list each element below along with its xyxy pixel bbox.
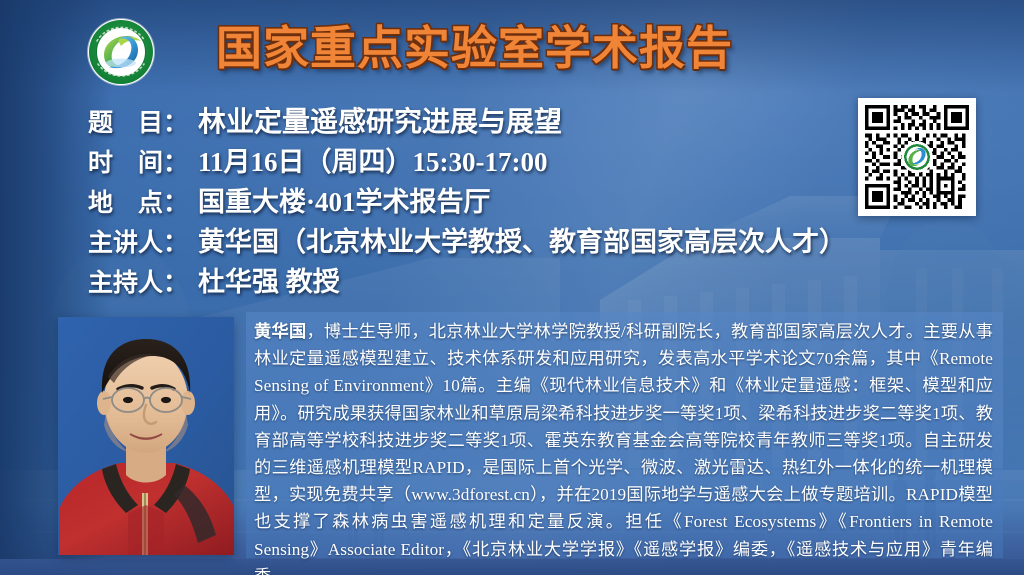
speaker-bio-text: 黄华国，博士生导师，北京林业大学林学院教授/科研副院长，教育部国家高层次人才。主… — [254, 318, 993, 575]
bio-speaker-name: 黄华国 — [254, 322, 306, 341]
info-label-speaker: 主讲人： — [88, 223, 198, 259]
event-info-block: 题 目： 林业定量遥感研究进展与展望 时 间： 11月16日（周四）15:30-… — [88, 100, 846, 300]
info-label-topic: 题 目： — [88, 103, 198, 139]
info-row-topic: 题 目： 林业定量遥感研究进展与展望 — [88, 100, 846, 140]
info-label-host: 主持人： — [88, 263, 198, 299]
speaker-bio-panel: 黄华国，博士生导师，北京林业大学林学院教授/科研副院长，教育部国家高层次人才。主… — [246, 312, 1003, 558]
info-row-host: 主持人： 杜华强 教授 — [88, 260, 846, 300]
info-label-time: 时 间： — [88, 143, 198, 179]
page-title: 国家重点实验室学术报告 — [216, 16, 733, 80]
laboratory-logo-icon — [88, 19, 154, 85]
info-value-speaker: 黄华国（北京林业大学教授、教育部国家高层次人才） — [198, 220, 846, 259]
info-row-speaker: 主讲人： 黄华国（北京林业大学教授、教育部国家高层次人才） — [88, 220, 846, 260]
qr-code[interactable] — [858, 98, 976, 216]
seminar-poster: 国家重点实验室学术报告 题 目： 林业定量遥感研究进展与展望 时 间： 11月1… — [0, 0, 1024, 575]
info-row-time: 时 间： 11月16日（周四）15:30-17:00 — [88, 140, 846, 180]
info-value-time: 11月16日（周四）15:30-17:00 — [198, 140, 547, 179]
info-value-host: 杜华强 教授 — [198, 260, 340, 299]
bio-body: ，博士生导师，北京林业大学林学院教授/科研副院长，教育部国家高层次人才。主要从事… — [254, 322, 993, 575]
info-value-place: 国重大楼·401学术报告厅 — [198, 180, 491, 219]
poster-header: 国家重点实验室学术报告 — [0, 0, 1024, 92]
speaker-photo — [58, 317, 234, 555]
info-label-place: 地 点： — [88, 183, 198, 219]
info-value-topic: 林业定量遥感研究进展与展望 — [198, 100, 562, 140]
info-row-place: 地 点： 国重大楼·401学术报告厅 — [88, 180, 846, 220]
